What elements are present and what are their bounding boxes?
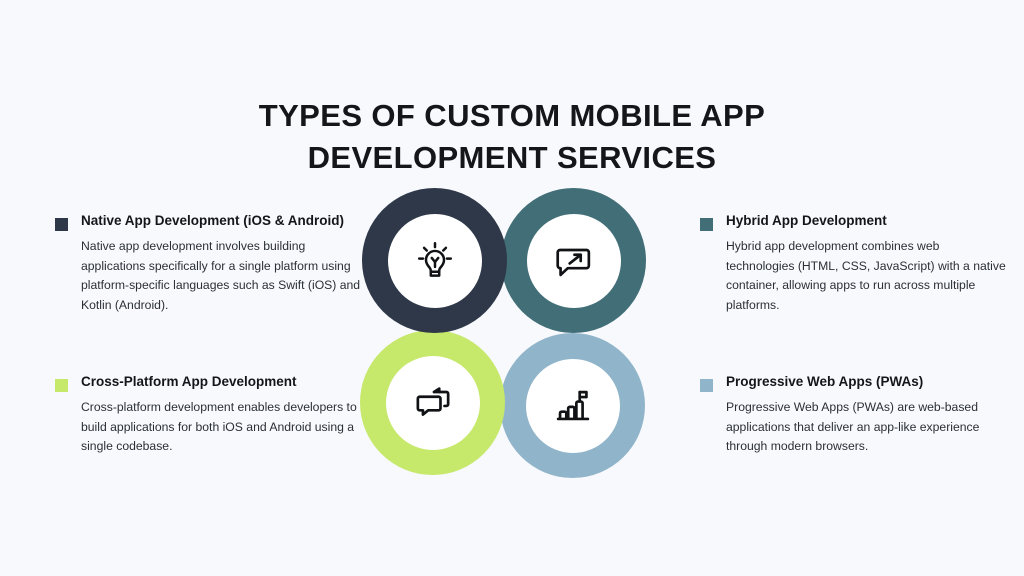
ring-cluster-graphic — [360, 188, 665, 493]
ring-cross-platform — [360, 330, 505, 475]
bullet-marker-native — [55, 218, 68, 231]
item-native-heading: Native App Development (iOS & Android) — [55, 212, 365, 229]
ring-native — [362, 188, 507, 333]
bullet-marker-cross-platform — [55, 379, 68, 392]
chat-bubbles-icon — [410, 380, 456, 426]
ring-pwa — [500, 333, 645, 478]
ring-native-inner — [388, 214, 482, 308]
item-hybrid: Hybrid App Development Hybrid app develo… — [700, 212, 1010, 315]
item-pwa-body: Progressive Web Apps (PWAs) are web-base… — [700, 398, 1010, 457]
lightbulb-icon — [412, 238, 458, 284]
ring-hybrid-inner — [527, 214, 621, 308]
speech-bubble-arrow-icon — [551, 238, 597, 284]
page-title-line-1: TYPES OF CUSTOM MOBILE APP — [0, 95, 1024, 137]
item-hybrid-heading: Hybrid App Development — [700, 212, 1010, 229]
item-native: Native App Development (iOS & Android) N… — [55, 212, 365, 315]
item-cross-platform-heading: Cross-Platform App Development — [55, 373, 365, 390]
bullet-marker-pwa — [700, 379, 713, 392]
ring-cross-platform-inner — [386, 356, 480, 450]
item-cross-platform: Cross-Platform App Development Cross-pla… — [55, 373, 365, 457]
item-pwa: Progressive Web Apps (PWAs) Progressive … — [700, 373, 1010, 457]
ring-pwa-inner — [526, 359, 620, 453]
page-title: TYPES OF CUSTOM MOBILE APP DEVELOPMENT S… — [0, 95, 1024, 179]
item-native-body: Native app development involves building… — [55, 237, 365, 315]
bullet-marker-hybrid — [700, 218, 713, 231]
left-text-column: Native App Development (iOS & Android) N… — [55, 212, 365, 457]
right-text-column: Hybrid App Development Hybrid app develo… — [700, 212, 1010, 457]
item-pwa-heading: Progressive Web Apps (PWAs) — [700, 373, 1010, 390]
item-cross-platform-body: Cross-platform development enables devel… — [55, 398, 365, 457]
page-title-line-2: DEVELOPMENT SERVICES — [0, 137, 1024, 179]
item-hybrid-body: Hybrid app development combines web tech… — [700, 237, 1010, 315]
growth-chart-flag-icon — [550, 383, 596, 429]
ring-hybrid — [501, 188, 646, 333]
